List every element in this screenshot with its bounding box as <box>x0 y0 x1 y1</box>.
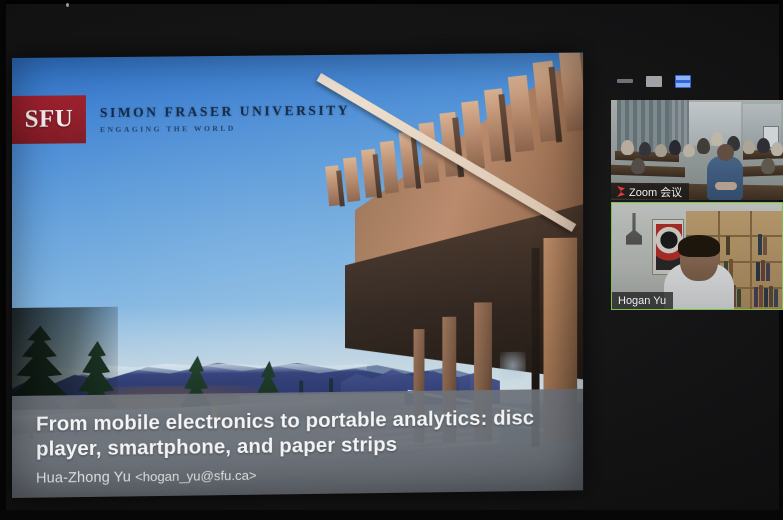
zoom-logo-icon <box>617 186 625 197</box>
zoom-video-panel: Zoom 会议 <box>611 72 783 314</box>
speaker-view-icon[interactable] <box>646 76 662 87</box>
video-tile-name-presenter: Hogan Yu <box>618 295 666 307</box>
slide-author-email: <hogan_yu@sfu.ca> <box>135 468 257 485</box>
sfu-logo-mark: SFU <box>12 95 86 144</box>
dust-speck <box>66 3 69 7</box>
wall-edge-top <box>0 0 783 4</box>
sfu-university-name: SIMON FRASER UNIVERSITY <box>100 102 350 120</box>
minimize-view-icon[interactable] <box>617 79 633 83</box>
video-tile-label-classroom: Zoom 会议 <box>611 183 689 200</box>
wall-edge-left <box>0 0 6 520</box>
video-tile-label-presenter: Hogan Yu <box>612 292 673 309</box>
slide-author-line: Hua-Zhong Yu <hogan_yu@sfu.ca> <box>36 464 583 487</box>
video-tile-classroom[interactable]: Zoom 会议 <box>611 100 783 200</box>
slide-caption-plate: From mobile electronics to portable anal… <box>12 389 583 498</box>
slide-author-name: Hua-Zhong Yu <box>36 470 131 487</box>
screenshot-root: SFU SIMON FRASER UNIVERSITY ENGAGING THE… <box>0 0 783 520</box>
sfu-logo-mark-text: SFU <box>25 105 74 133</box>
projected-slide: SFU SIMON FRASER UNIVERSITY ENGAGING THE… <box>12 53 583 498</box>
video-tile-name-classroom: Zoom 会议 <box>629 184 682 200</box>
zoom-view-toolbar[interactable] <box>617 72 737 90</box>
gallery-view-icon[interactable] <box>675 75 691 88</box>
sfu-tagline: ENGAGING THE WORLD <box>100 122 350 134</box>
video-tile-presenter[interactable]: Hogan Yu <box>611 202 783 310</box>
sfu-logo: SFU SIMON FRASER UNIVERSITY ENGAGING THE… <box>12 93 350 144</box>
slide-title: From mobile electronics to portable anal… <box>36 405 553 462</box>
wall-edge-bottom <box>0 510 783 520</box>
